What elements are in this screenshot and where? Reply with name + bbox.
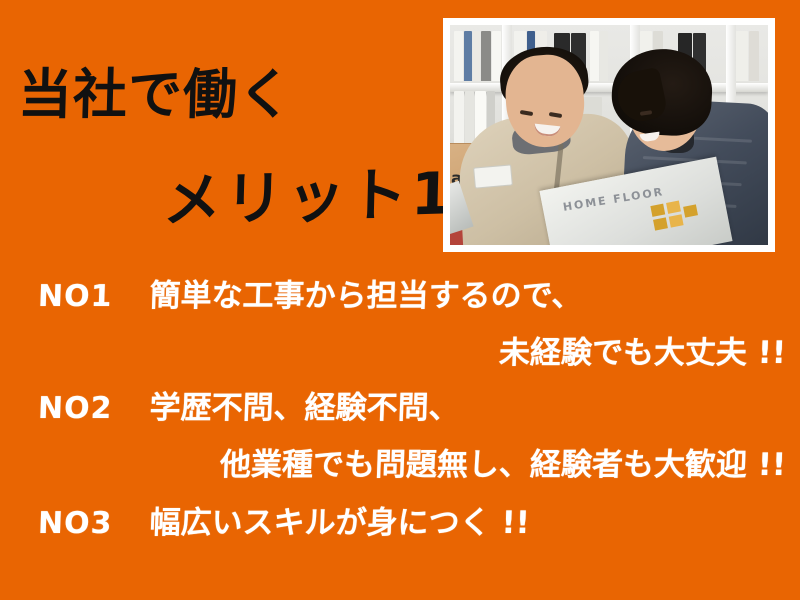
book (749, 31, 759, 81)
book (454, 31, 463, 81)
benefit-row-3: NO3 幅広いスキルが身につく !! (37, 508, 530, 539)
catalog-title: HOME FLOOR (562, 185, 665, 214)
book (473, 31, 480, 81)
catalog-swatch (666, 201, 681, 214)
book (464, 31, 472, 81)
headline-secondary: メリット1 (162, 164, 456, 230)
benefit-emphasis-1: 未経験でも大丈夫 !! (498, 335, 786, 371)
book (454, 91, 464, 149)
book (481, 31, 491, 81)
benefit-text-2: 学歴不問、経験不問、 (149, 390, 460, 426)
benefit-row-2-emphasis: 他業種でも問題無し、経験者も大歓迎 !! (0, 450, 787, 481)
benefit-emphasis-2: 他業種でも問題無し、経験者も大歓迎 !! (219, 447, 786, 483)
photo-frame: amazon (443, 18, 775, 252)
slide-canvas: 当社で働く メリット1 (0, 0, 800, 600)
catalog-swatch (683, 204, 698, 217)
benefit-text-1: 簡単な工事から担当するので、 (149, 278, 583, 314)
benefit-row-1-emphasis: 未経験でも大丈夫 !! (0, 338, 787, 369)
catalog-swatch (653, 217, 668, 230)
person-left-id-badge (473, 164, 513, 188)
photo-image: amazon (450, 25, 768, 245)
catalog-swatch (650, 204, 665, 217)
book (492, 31, 501, 81)
headline-primary: 当社で働く (17, 68, 293, 122)
benefit-number-3: NO3 (37, 506, 113, 541)
benefit-row-1: NO1 簡単な工事から担当するので、 (37, 281, 582, 312)
benefit-text-3: 幅広いスキルが身につく !! (149, 505, 530, 541)
book (600, 31, 608, 81)
book (590, 31, 599, 81)
book (736, 31, 748, 81)
shelf-board (450, 83, 768, 92)
benefit-number-1: NO1 (37, 279, 113, 314)
benefit-number-2: NO2 (37, 391, 113, 426)
catalog-swatch (669, 214, 684, 227)
benefit-row-2: NO2 学歴不問、経験不問、 (37, 393, 460, 424)
